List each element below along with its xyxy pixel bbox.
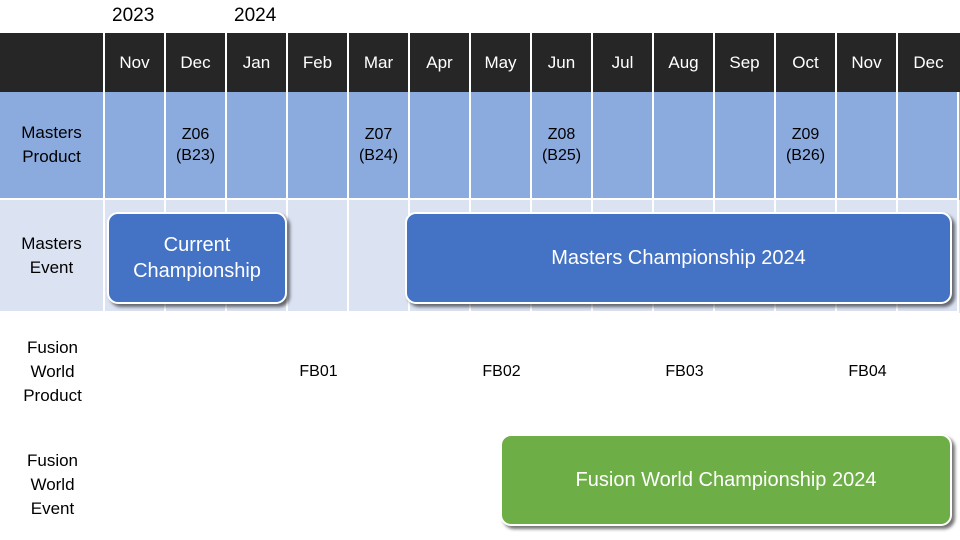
month-header-cell-8[interactable]: Jul xyxy=(593,33,654,92)
cell-fusion-world-product-mar-4[interactable] xyxy=(349,313,410,430)
cell-masters-product-apr-5[interactable] xyxy=(410,92,471,200)
cell-masters-product-nov-12[interactable] xyxy=(837,92,898,200)
month-header-cell-1[interactable]: Dec xyxy=(166,33,227,92)
cell-fusion-world-product-jan-2[interactable] xyxy=(227,313,288,430)
cell-masters-product-feb-3[interactable] xyxy=(288,92,349,200)
month-header-row: NovDecJanFebMarAprMayJunJulAugSepOctNovD… xyxy=(0,33,960,92)
cell-masters-product-jun-7[interactable]: Z08 (B25) xyxy=(532,92,593,200)
cell-fusion-world-product-jun-7[interactable] xyxy=(532,313,593,430)
cell-fusion-world-product-may-6[interactable]: FB02 xyxy=(471,313,532,430)
cell-fusion-world-product-sep-10[interactable] xyxy=(715,313,776,430)
month-header-cell-11[interactable]: Oct xyxy=(776,33,837,92)
current-championship-bar[interactable]: Current Championship xyxy=(107,212,287,304)
cell-fusion-world-event-jan-2[interactable] xyxy=(227,430,288,540)
header-corner-cell xyxy=(0,33,105,92)
cell-masters-product-dec-1[interactable]: Z06 (B23) xyxy=(166,92,227,200)
row-label-fusion-world-event: Fusion World Event xyxy=(0,430,105,540)
year-label-band: 20232024 xyxy=(0,0,960,33)
month-header-cell-7[interactable]: Jun xyxy=(532,33,593,92)
cell-fusion-world-product-dec-1[interactable] xyxy=(166,313,227,430)
month-header-cell-13[interactable]: Dec xyxy=(898,33,959,92)
year-label-2023: 2023 xyxy=(112,6,154,26)
cell-masters-product-aug-9[interactable] xyxy=(654,92,715,200)
cell-masters-product-may-6[interactable] xyxy=(471,92,532,200)
month-header-cell-9[interactable]: Aug xyxy=(654,33,715,92)
cell-fusion-world-event-mar-4[interactable] xyxy=(349,430,410,540)
month-header-cell-6[interactable]: May xyxy=(471,33,532,92)
cell-fusion-world-product-nov-0[interactable] xyxy=(105,313,166,430)
timeline-row-fusion-world-product: Fusion World ProductFB01FB02FB03FB04 xyxy=(0,313,960,430)
row-label-masters-event: Masters Event xyxy=(0,200,105,313)
cell-fusion-world-event-feb-3[interactable] xyxy=(288,430,349,540)
row-label-masters-product: Masters Product xyxy=(0,92,105,200)
fusion-world-championship-2024-bar[interactable]: Fusion World Championship 2024 xyxy=(500,434,952,526)
cell-masters-product-mar-4[interactable]: Z07 (B24) xyxy=(349,92,410,200)
cell-fusion-world-product-apr-5[interactable] xyxy=(410,313,471,430)
cell-fusion-world-event-dec-1[interactable] xyxy=(166,430,227,540)
roadmap-timeline: 20232024 NovDecJanFebMarAprMayJunJulAugS… xyxy=(0,0,960,540)
cell-fusion-world-product-nov-12[interactable]: FB04 xyxy=(837,313,898,430)
year-label-2024: 2024 xyxy=(234,6,276,26)
cell-fusion-world-product-dec-13[interactable] xyxy=(898,313,959,430)
month-header-cell-5[interactable]: Apr xyxy=(410,33,471,92)
cell-masters-product-oct-11[interactable]: Z09 (B26) xyxy=(776,92,837,200)
row-cells-masters-product: Z06 (B23)Z07 (B24)Z08 (B25)Z09 (B26) xyxy=(105,92,960,200)
cell-masters-product-nov-0[interactable] xyxy=(105,92,166,200)
month-header-cell-2[interactable]: Jan xyxy=(227,33,288,92)
cell-masters-event-feb-3[interactable] xyxy=(288,200,349,313)
cell-fusion-world-product-oct-11[interactable] xyxy=(776,313,837,430)
month-header-cell-10[interactable]: Sep xyxy=(715,33,776,92)
cell-fusion-world-product-feb-3[interactable]: FB01 xyxy=(288,313,349,430)
month-header-cell-3[interactable]: Feb xyxy=(288,33,349,92)
masters-championship-2024-bar[interactable]: Masters Championship 2024 xyxy=(405,212,952,304)
cell-fusion-world-product-jul-8[interactable] xyxy=(593,313,654,430)
cell-fusion-world-event-nov-0[interactable] xyxy=(105,430,166,540)
cell-fusion-world-event-apr-5[interactable] xyxy=(410,430,471,540)
cell-masters-product-jan-2[interactable] xyxy=(227,92,288,200)
cell-fusion-world-product-aug-9[interactable]: FB03 xyxy=(654,313,715,430)
cell-masters-product-sep-10[interactable] xyxy=(715,92,776,200)
month-header-cell-12[interactable]: Nov xyxy=(837,33,898,92)
cell-masters-product-jul-8[interactable] xyxy=(593,92,654,200)
month-header-cell-4[interactable]: Mar xyxy=(349,33,410,92)
timeline-row-masters-product: Masters ProductZ06 (B23)Z07 (B24)Z08 (B2… xyxy=(0,92,960,200)
cell-masters-event-mar-4[interactable] xyxy=(349,200,410,313)
row-cells-fusion-world-product: FB01FB02FB03FB04 xyxy=(105,313,960,430)
cell-masters-product-dec-13[interactable] xyxy=(898,92,959,200)
row-label-fusion-world-product: Fusion World Product xyxy=(0,313,105,430)
month-header-cell-0[interactable]: Nov xyxy=(105,33,166,92)
